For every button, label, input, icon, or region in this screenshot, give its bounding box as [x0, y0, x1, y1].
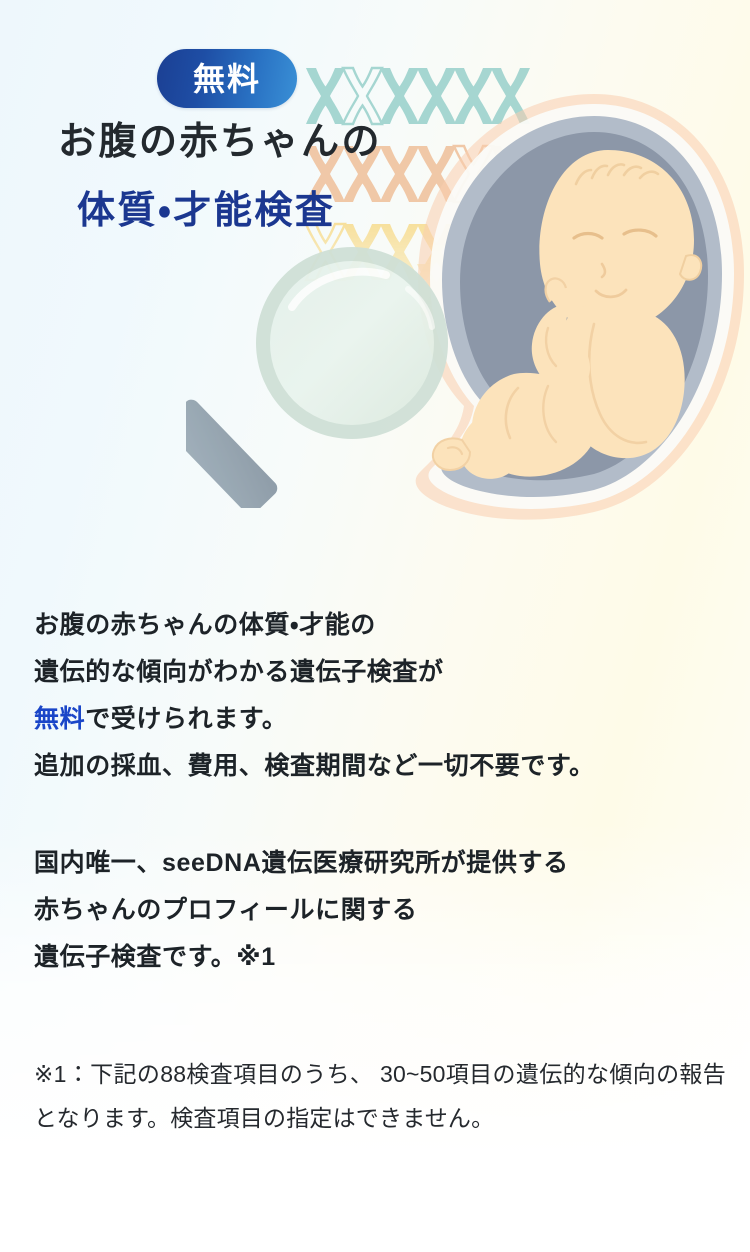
paragraph-secondary: 国内唯一、seeDNA遺伝医療研究所が提供する 赤ちゃんのプロフィールに関する … — [34, 840, 724, 981]
paragraph-primary-line-4: 追加の採血、費用、検査期間など一切不要です。 — [34, 743, 724, 790]
hero-section: 無料 お腹の赤ちゃんの 体質・才能検査 — [0, 0, 750, 560]
promo-page: 無料 お腹の赤ちゃんの 体質・才能検査 お腹の赤ちゃんの体質・才能の 遺伝的な傾… — [0, 0, 750, 1252]
hero-title-line-1: お腹の赤ちゃんの — [58, 123, 382, 161]
paragraph-primary-line-2: 遺伝的な傾向がわかる遺伝子検査が — [34, 649, 724, 696]
magnifying-glass-icon — [186, 243, 456, 508]
paragraph-secondary-line-2: 赤ちゃんのプロフィールに関する — [34, 887, 724, 934]
paragraph-secondary-line-1: 国内唯一、seeDNA遺伝医療研究所が提供する — [34, 840, 724, 887]
free-highlight-rest: で受けられます。 — [85, 705, 287, 733]
paragraph-primary-line-3: 無料で受けられます。 — [34, 696, 724, 743]
paragraph-primary: お腹の赤ちゃんの体質・才能の 遺伝的な傾向がわかる遺伝子検査が 無料で受けられま… — [34, 602, 724, 790]
paragraph-primary-line-1: お腹の赤ちゃんの体質・才能の — [34, 602, 724, 649]
free-badge: 無料 — [157, 49, 297, 108]
free-highlight: 無料 — [34, 705, 85, 733]
free-badge-label: 無料 — [193, 63, 261, 95]
paragraph-secondary-line-3: 遺伝子検査です。※1 — [34, 934, 724, 981]
footnote-text: ※1：下記の88検査項目のうち、 30~50項目の遺伝的な傾向の報告となります。… — [34, 1052, 726, 1140]
hero-title-line-2: 体質・才能検査 — [77, 192, 335, 230]
